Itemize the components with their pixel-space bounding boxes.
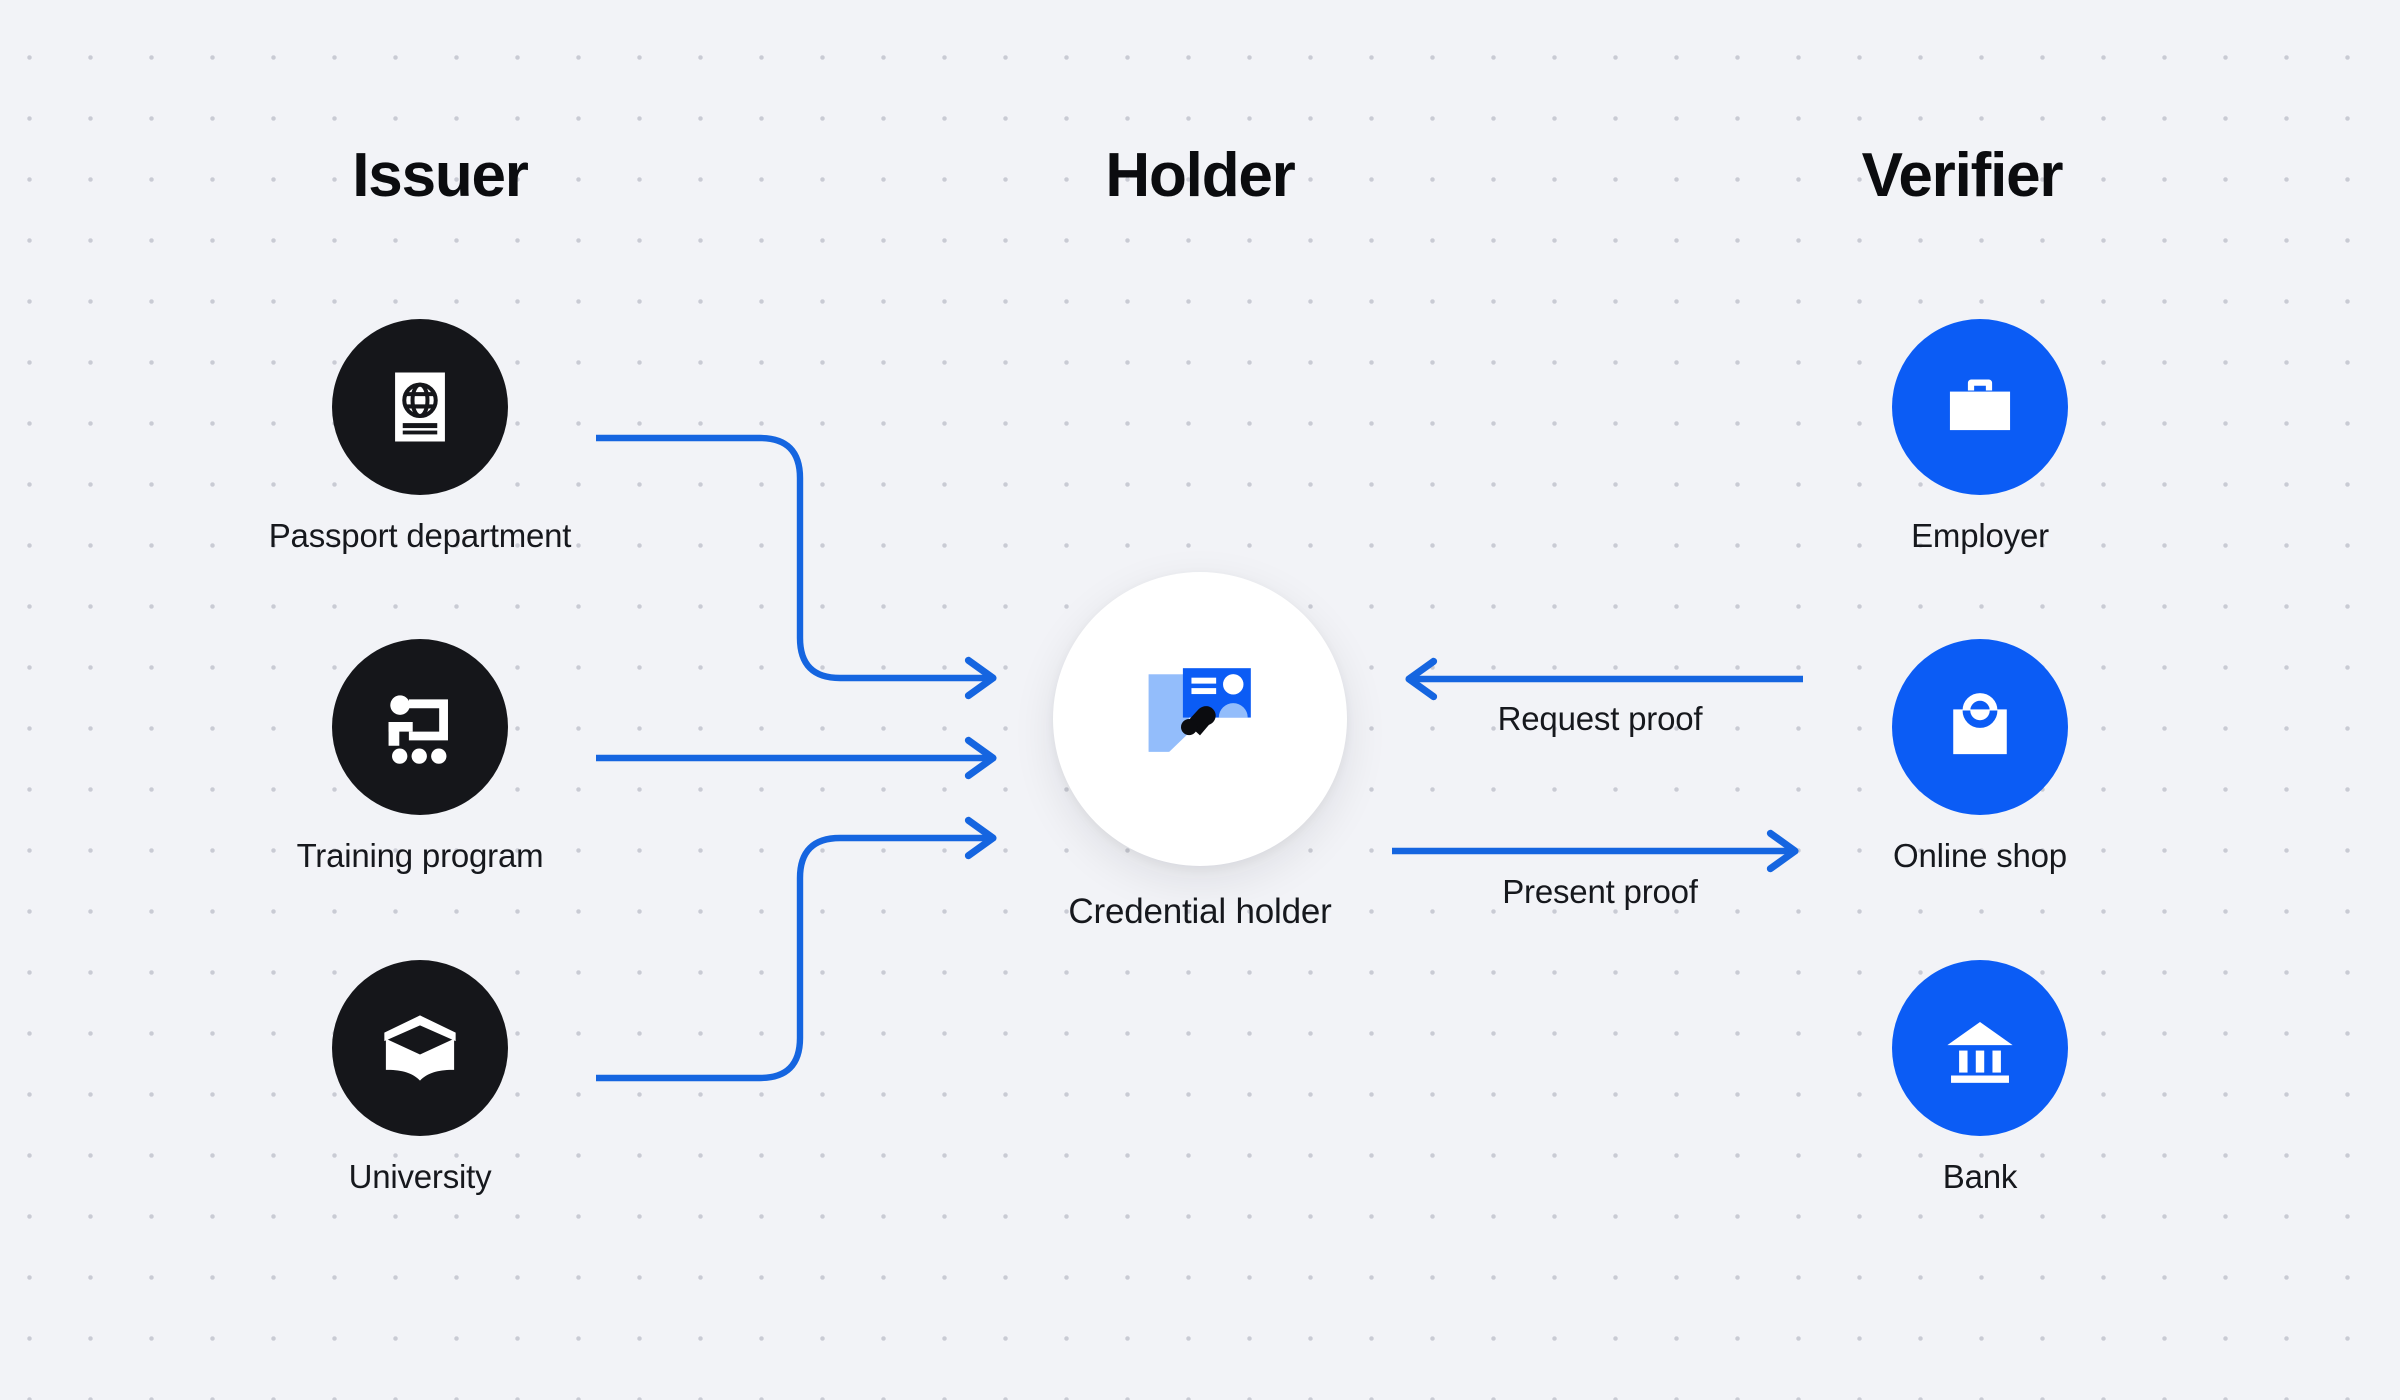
training-program-disc [332,639,508,815]
graduation-book-icon [374,1002,466,1094]
node-passport-department[interactable]: Passport department [210,319,630,555]
node-employer[interactable]: Employer [1770,319,2190,555]
node-online-shop[interactable]: Online shop [1770,639,2190,875]
flow-label-present-proof: Present proof [1502,873,1698,911]
university-disc [332,960,508,1136]
credential-holder-label: Credential holder [940,892,1460,932]
column-title-verifier: Verifier [1862,140,2063,211]
bank-building-icon [1936,1004,2024,1092]
node-training-program[interactable]: Training program [210,639,630,875]
passport-department-disc [332,319,508,495]
online-shop-label: Online shop [1770,837,2190,875]
shopping-bag-icon [1936,683,2024,771]
node-university[interactable]: University [210,960,630,1196]
passport-icon [374,361,466,453]
employer-disc [1892,319,2068,495]
training-program-label: Training program [210,837,630,875]
id-credential-icon [1124,643,1276,795]
connector-passport-to-holder [596,438,993,678]
diagram-canvas: Issuer Holder Verifier Passport departme… [0,0,2400,1400]
briefcase-icon [1936,363,2024,451]
node-bank[interactable]: Bank [1770,960,2190,1196]
credential-holder-disc [1053,572,1347,866]
connector-university-to-holder [596,838,993,1078]
column-title-issuer: Issuer [352,140,527,211]
bank-disc [1892,960,2068,1136]
flow-label-request-proof: Request proof [1498,700,1703,738]
node-credential-holder[interactable]: Credential holder [940,572,1460,932]
online-shop-disc [1892,639,2068,815]
university-label: University [210,1158,630,1196]
bank-label: Bank [1770,1158,2190,1196]
employer-label: Employer [1770,517,2190,555]
training-board-icon [374,681,466,773]
passport-department-label: Passport department [210,517,630,555]
column-title-holder: Holder [1105,140,1294,211]
